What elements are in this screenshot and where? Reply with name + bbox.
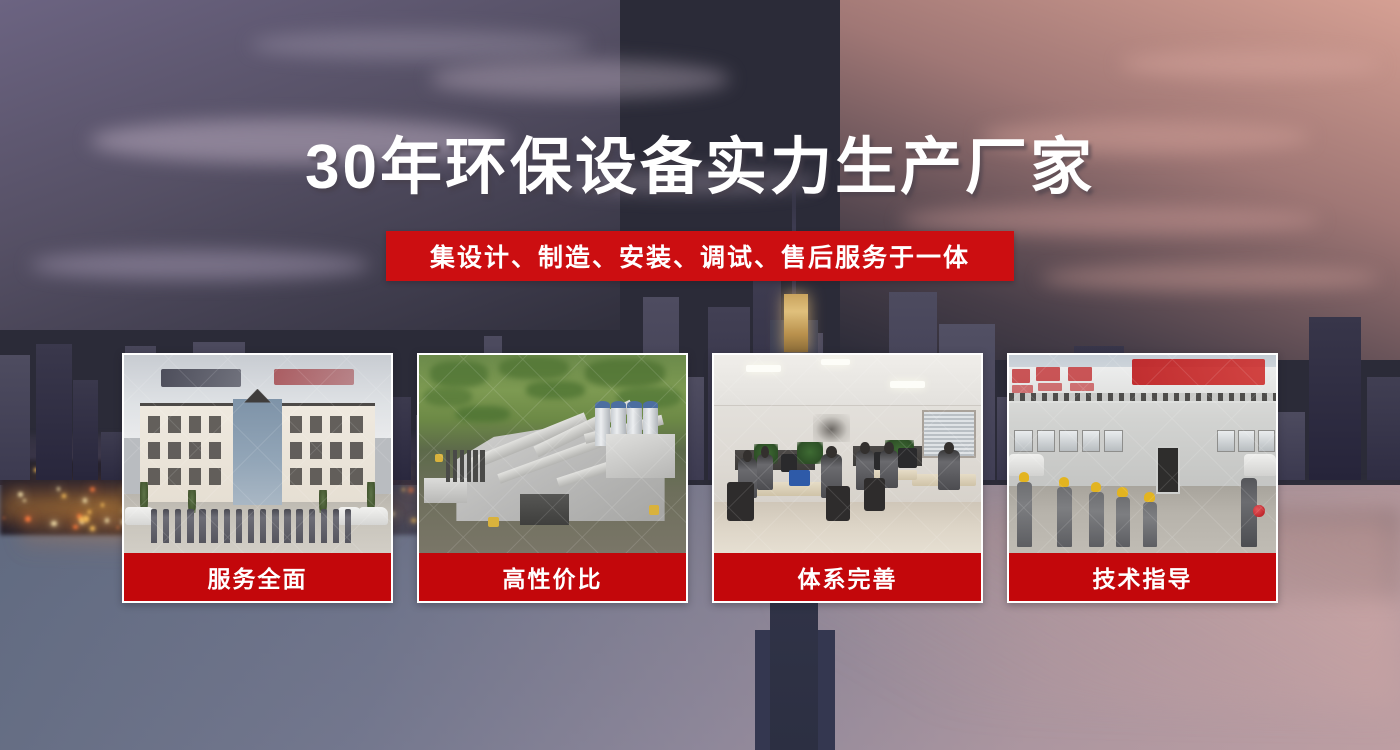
smokestack: [480, 450, 484, 482]
office-worker: [757, 454, 773, 490]
person-head: [860, 442, 869, 454]
building-window: [168, 416, 180, 433]
person-head: [743, 450, 752, 462]
factory-worker: [1089, 492, 1104, 547]
field-patch: [499, 357, 568, 379]
page-title: 30年环保设备实力生产厂家: [0, 132, 1400, 203]
building-signage: [161, 369, 241, 387]
wall-art: [813, 414, 850, 442]
building-window: [330, 442, 342, 459]
building-window: [310, 468, 322, 485]
field-patch: [430, 361, 489, 387]
staff-member: [211, 509, 217, 543]
ceiling-light: [890, 381, 925, 388]
silo-cap: [643, 401, 658, 409]
building: [1367, 377, 1400, 480]
office-chair: [727, 482, 754, 522]
staff-member: [236, 509, 242, 543]
staff-member: [175, 509, 181, 543]
slogan-text: [1068, 367, 1092, 381]
field-patch: [424, 387, 472, 407]
shore-lamp: [105, 518, 110, 523]
shore-lamp: [83, 516, 89, 522]
smokestack: [473, 450, 477, 482]
parked-car: [359, 507, 388, 525]
ceiling-light: [746, 365, 781, 372]
building: [1309, 317, 1361, 480]
building-window: [310, 416, 322, 433]
factory-worker: [1116, 497, 1131, 547]
staff-member: [296, 509, 302, 543]
building-window: [209, 442, 221, 459]
field-patch: [526, 381, 585, 399]
staff-member: [248, 509, 254, 543]
staff-member: [199, 509, 205, 543]
factory-window: [1037, 430, 1056, 452]
silo-cap: [627, 401, 642, 409]
card-photo-industrial-plant: [417, 353, 688, 553]
silo-cap: [611, 401, 626, 409]
shore-lamp: [73, 525, 78, 530]
factory-window: [1082, 430, 1101, 452]
person-head: [826, 446, 837, 458]
subtitle-banner: 集设计、制造、安装、调试、售后服务于一体: [386, 231, 1014, 281]
building: [101, 432, 123, 480]
tower-crown-lit: [784, 294, 808, 352]
hard-hat: [1059, 477, 1070, 487]
building-window: [350, 416, 362, 433]
subtitle-text: 集设计、制造、安装、调试、售后服务于一体: [430, 238, 970, 274]
monitor: [898, 448, 917, 468]
parked-car: [1244, 454, 1276, 476]
office-chair: [826, 486, 850, 522]
shore-lamp: [79, 517, 84, 522]
card-caption-text: 高性价比: [503, 560, 603, 594]
card-caption: 高性价比: [417, 553, 688, 603]
office-chair: [864, 478, 885, 512]
factory-window: [1014, 430, 1033, 452]
person-head: [884, 442, 893, 454]
excavator: [649, 505, 660, 515]
shore-lamp: [51, 521, 57, 527]
factory-window: [1238, 430, 1255, 452]
feature-card-list: 服务全面 高性价比: [122, 353, 1278, 603]
building-window: [168, 442, 180, 459]
factory-window: [1258, 430, 1275, 452]
card-caption: 体系完善: [712, 553, 983, 603]
building-window: [189, 442, 201, 459]
factory-worker: [1057, 487, 1072, 547]
card-caption-text: 体系完善: [798, 560, 898, 594]
shed-dark: [520, 494, 568, 526]
staff-member: [345, 509, 351, 543]
field-patch: [456, 406, 509, 422]
building-window: [209, 416, 221, 433]
card-photo-factory-workers: [1007, 353, 1278, 553]
silo-cap: [595, 401, 610, 409]
hard-hat: [1117, 487, 1128, 497]
building-window: [148, 416, 160, 433]
hard-hat: [1019, 472, 1030, 482]
building-window: [290, 442, 302, 459]
factory-worker: [1017, 482, 1032, 547]
warehouse: [606, 434, 675, 478]
field-patch: [585, 359, 665, 387]
building: [0, 355, 30, 480]
card-caption: 服务全面: [122, 553, 393, 603]
staff-member: [309, 509, 315, 543]
feature-card[interactable]: 技术指导: [1007, 353, 1278, 603]
factory-window: [1059, 430, 1078, 452]
slogan-text: [1012, 385, 1033, 393]
factory-window: [1104, 430, 1123, 452]
card-photo-office-interior: [712, 353, 983, 553]
slogan-text: [1036, 367, 1060, 381]
slogan-text: [1070, 383, 1094, 391]
building-window: [330, 416, 342, 433]
building: [36, 344, 72, 480]
person-head: [944, 442, 955, 454]
factory-window: [1217, 430, 1234, 452]
building-window: [290, 416, 302, 433]
excavator: [488, 517, 499, 527]
excavator: [435, 454, 443, 462]
building-window: [148, 442, 160, 459]
staff-member: [321, 509, 327, 543]
card-caption: 技术指导: [1007, 553, 1278, 603]
building-window: [168, 468, 180, 485]
cloud: [1120, 50, 1380, 78]
building-window: [310, 442, 322, 459]
smokestack: [467, 450, 471, 482]
hard-hat: [1144, 492, 1155, 502]
potted-plant: [797, 442, 824, 464]
factory-worker: [1143, 502, 1158, 548]
feature-card[interactable]: 高性价比: [417, 353, 688, 603]
hard-hat: [1091, 482, 1102, 492]
building-window: [189, 468, 201, 485]
staff-member: [333, 509, 339, 543]
laptop: [789, 470, 810, 486]
building-window: [350, 442, 362, 459]
slogan-text: [1012, 369, 1031, 383]
staff-member: [284, 509, 290, 543]
shore-lamp: [62, 494, 66, 498]
card-caption-text: 服务全面: [208, 560, 308, 594]
building-window: [350, 468, 362, 485]
staff-member: [272, 509, 278, 543]
building: [73, 380, 98, 480]
person-head: [761, 446, 769, 458]
smokestack: [446, 450, 450, 482]
building-window: [209, 468, 221, 485]
slogan-text: [1038, 383, 1062, 391]
factory-signage: [1132, 359, 1266, 385]
cloud: [430, 60, 730, 98]
promo-banner: 30年环保设备实力生产厂家 集设计、制造、安装、调试、售后服务于一体: [0, 0, 1400, 750]
smokestack: [460, 450, 464, 482]
staff-member: [260, 509, 266, 543]
staff-member: [187, 509, 193, 543]
feature-card[interactable]: 服务全面: [122, 353, 393, 603]
card-caption-text: 技术指导: [1093, 560, 1193, 594]
building-phone-number: [274, 369, 354, 385]
shore-lamp: [57, 487, 60, 490]
smokestack: [453, 450, 457, 482]
building-window: [189, 416, 201, 433]
ceiling-light: [821, 359, 850, 365]
shore-lamp: [101, 503, 104, 506]
office-worker: [938, 450, 959, 490]
staff-member: [163, 509, 169, 543]
building-window: [148, 468, 160, 485]
feature-card[interactable]: 体系完善: [712, 353, 983, 603]
cloud: [250, 30, 590, 60]
card-photo-office-building: [122, 353, 393, 553]
building-window: [330, 468, 342, 485]
staff-member: [224, 509, 230, 543]
staff-member: [151, 509, 157, 543]
building-window: [290, 468, 302, 485]
